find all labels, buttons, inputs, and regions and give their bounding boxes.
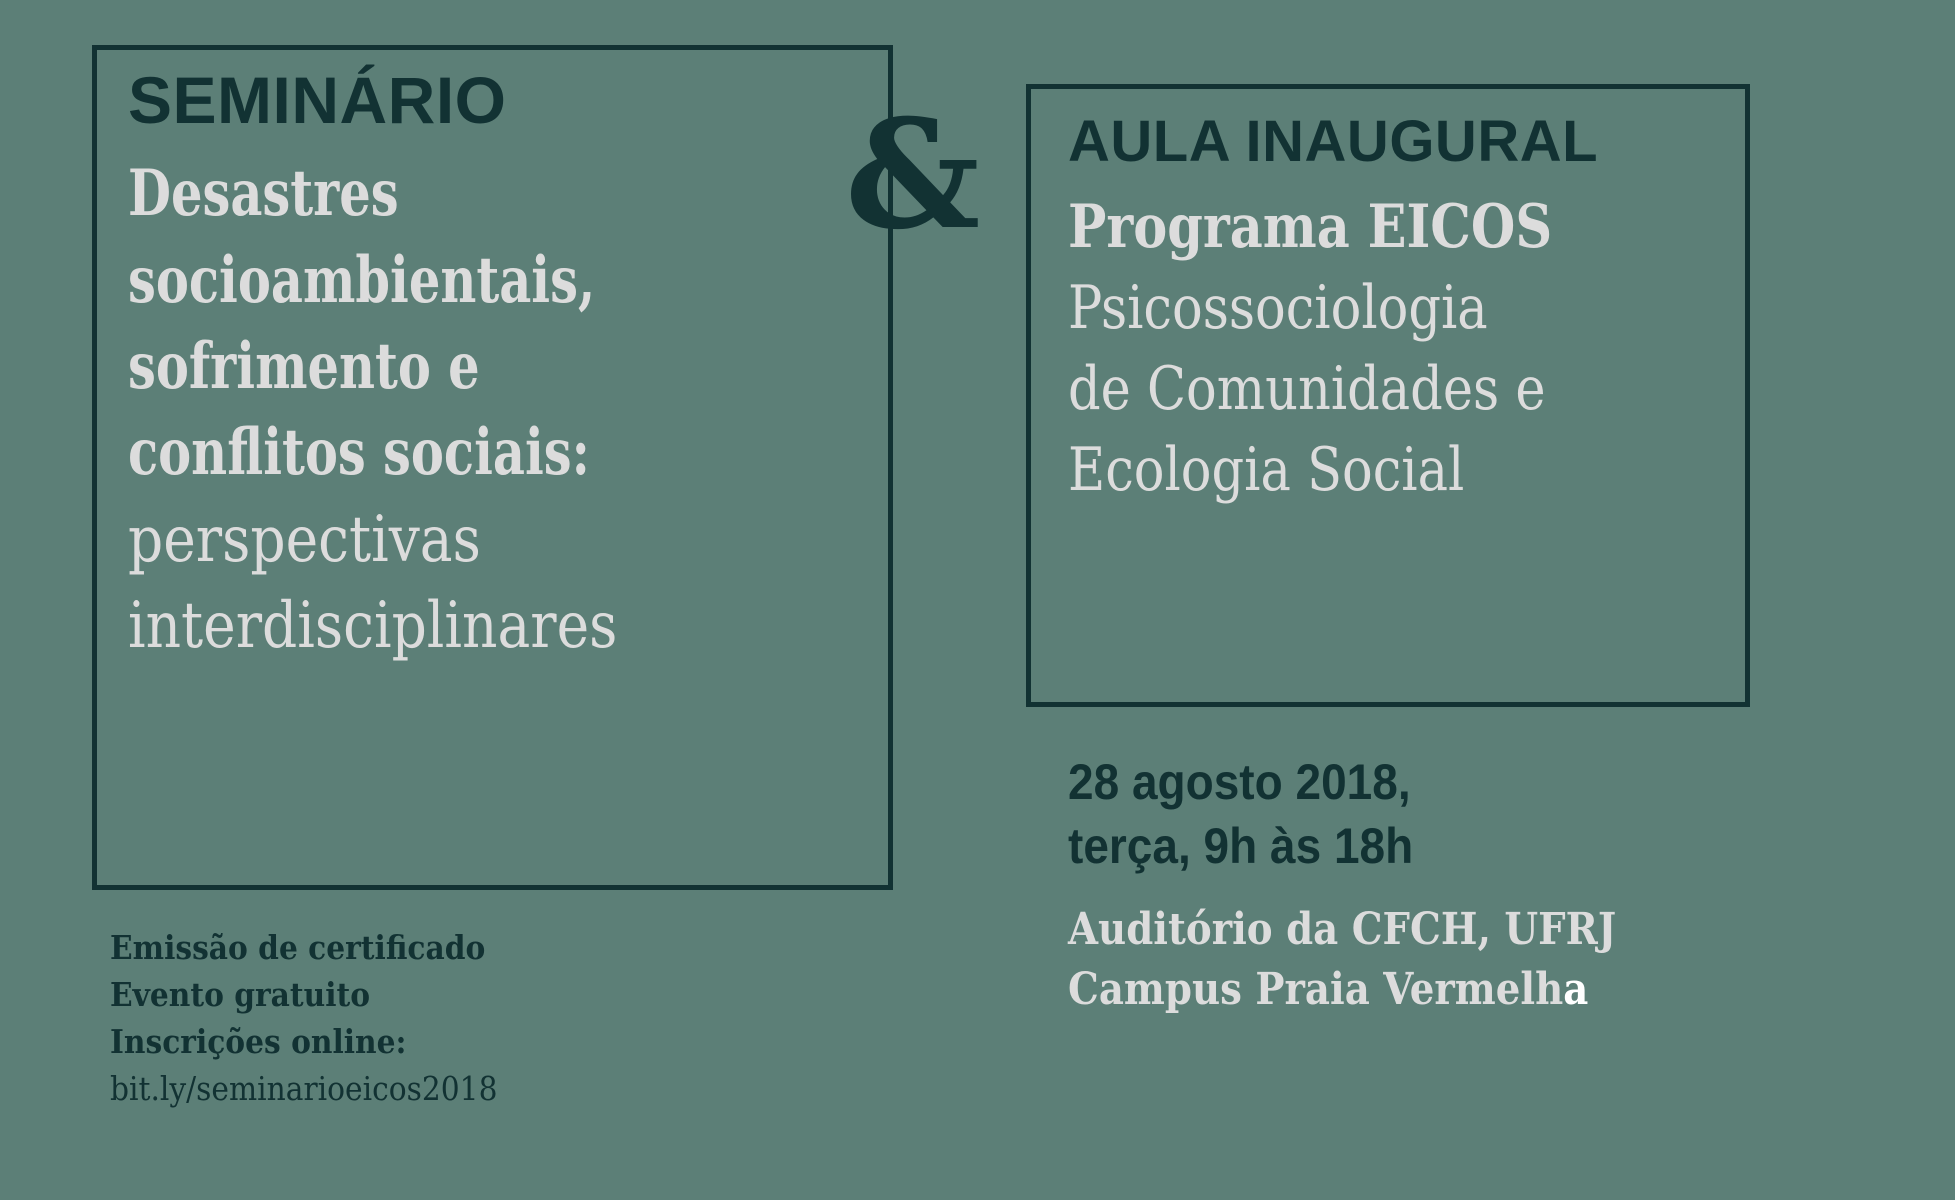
event-date-line-1: 28 agosto 2018,	[1068, 750, 1767, 814]
online-registration-label: Inscrições online:	[110, 1019, 776, 1066]
venue-line-2-text: Campus Praia Vermelh	[1068, 964, 1563, 1015]
programa-subtitle-line-2: de Comunidades e	[1068, 349, 1663, 430]
free-event-info: Evento gratuito	[110, 972, 776, 1019]
seminar-title-line-3: sofrimento e	[128, 324, 756, 410]
aula-inaugural-text-block: AULA INAUGURAL Programa EICOS Psicossoci…	[1068, 112, 1768, 511]
seminar-title-line-6: interdisciplinares	[128, 583, 756, 669]
programa-subtitle-line-1: Psicossociologia	[1068, 268, 1663, 349]
seminar-title-line-2: socioambientais,	[128, 238, 756, 324]
venue-line-2-accent: a	[1563, 964, 1588, 1015]
venue-line-1: Auditório da CFCH, UFRJ	[1068, 900, 1737, 960]
seminar-text-block: SEMINÁRIO Desastres socioambientais, sof…	[128, 66, 858, 670]
programa-subtitle-line-3: Ecologia Social	[1068, 430, 1663, 511]
seminar-kicker: SEMINÁRIO	[128, 66, 858, 135]
event-poster: & SEMINÁRIO Desastres socioambientais, s…	[0, 0, 1955, 1200]
aula-kicker: AULA INAUGURAL	[1068, 112, 1768, 173]
seminar-title-line-5: perspectivas	[128, 497, 756, 583]
event-date-line-2: terça, 9h às 18h	[1068, 814, 1767, 878]
venue-block: Auditório da CFCH, UFRJ Campus Praia Ver…	[1068, 900, 1828, 1020]
registration-info-block: Emissão de certificado Evento gratuito I…	[110, 925, 850, 1112]
seminar-title-line-4: conflitos sociais:	[128, 410, 756, 496]
venue-line-1-text: Auditório da CFCH, UFRJ	[1068, 904, 1616, 955]
programa-eicos-title: Programa EICOS	[1068, 187, 1663, 268]
registration-link[interactable]: bit.ly/seminarioeicos2018	[110, 1066, 776, 1113]
venue-line-2: Campus Praia Vermelha	[1068, 960, 1737, 1020]
certificate-info: Emissão de certificado	[110, 925, 776, 972]
event-details-block: 28 agosto 2018, terça, 9h às 18h Auditór…	[1068, 750, 1828, 1020]
ampersand-conjunction: &	[845, 100, 975, 250]
seminar-title-line-1: Desastres	[128, 151, 756, 237]
